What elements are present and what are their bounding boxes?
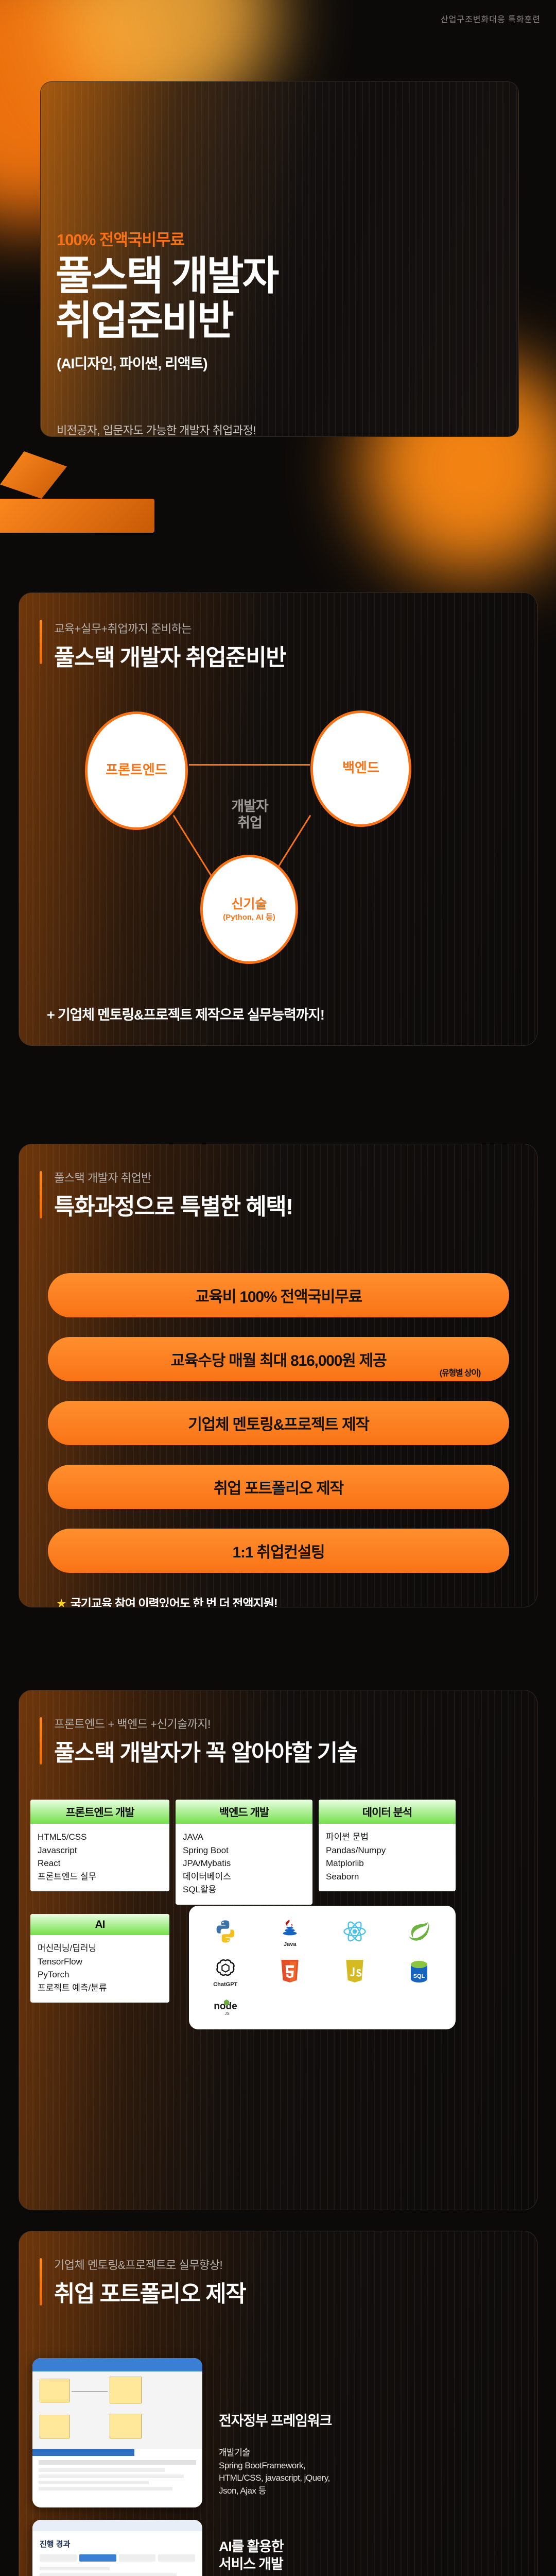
- accent-bar: [40, 2258, 42, 2306]
- star-icon: ★: [56, 1597, 66, 1607]
- diagram-section: 교육+실무+취업까지 준비하는 풀스택 개발자 취업준비반 프론트엔드 백엔드 …: [19, 592, 537, 1046]
- diagram-footer-note: + 기업체 멘토링&프로젝트 제작으로 실무능력까지!: [47, 1004, 324, 1024]
- benefit-pill[interactable]: 취업 포트폴리오 제작: [48, 1465, 509, 1509]
- decor-shard-2: [0, 499, 154, 533]
- javascript-logo: [344, 1959, 366, 1986]
- benefits-eyebrow: 풀스택 개발자 취업반: [54, 1169, 292, 1185]
- portfolio-eyebrow: 기업체 멘토링&프로젝트로 실무향상!: [54, 2256, 246, 2273]
- skills-title: 풀스택 개발자가 꼭 알아야할 기술: [54, 1740, 357, 1766]
- hero-kicker: 100% 전액국비무료: [57, 227, 184, 250]
- skill-card-body: 머신러닝/딥러닝 TensorFlow PyTorch 프로젝트 예측/분류: [30, 1935, 169, 2003]
- benefit-pill[interactable]: 교육비 100% 전액국비무료: [48, 1273, 509, 1317]
- portfolio-item-title: 전자정부 프레임워크: [219, 2413, 517, 2430]
- skill-card-header: 데이터 분석: [319, 1800, 456, 1824]
- portfolio-section: 기업체 멘토링&프로젝트로 실무향상! 취업 포트폴리오 제작 전자정부 프레임…: [19, 2231, 537, 2576]
- diagram-heading: 교육+실무+취업까지 준비하는 풀스택 개발자 취업준비반: [54, 620, 286, 671]
- hero-sub: 비전공자, 입문자도 가능한 개발자 취업과정!: [57, 421, 256, 438]
- portfolio-screenshot-2: 진행 경과: [32, 2520, 202, 2576]
- java-logo: Java: [278, 1917, 302, 1947]
- diagram-center-label: 개발자 취업: [208, 798, 291, 832]
- html5-logo: [279, 1959, 301, 1986]
- skill-card-body: JAVA Spring Boot JPA/Mybatis 데이터베이스 SQL활…: [176, 1824, 312, 1905]
- skill-card-backend: 백엔드 개발 JAVA Spring Boot JPA/Mybatis 데이터베…: [176, 1800, 312, 1905]
- skill-card-ai: AI 머신러닝/딥러닝 TensorFlow PyTorch 프로젝트 예측/분…: [30, 1914, 169, 2003]
- skill-card-header: 백엔드 개발: [176, 1800, 312, 1824]
- hero-title-line2: 취업준비반: [56, 298, 277, 343]
- edge-frontend-backend: [189, 764, 310, 766]
- svg-text:JS: JS: [224, 2011, 229, 2016]
- skill-card-frontend: 프론트엔드 개발 HTML5/CSS Javascript React 프론트엔…: [30, 1800, 169, 1891]
- diagram-eyebrow: 교육+실무+취업까지 준비하는: [54, 620, 286, 636]
- skill-card-header: 프론트엔드 개발: [30, 1800, 169, 1824]
- benefits-star-note: ★국기교육 참여 이력있어도 한 번 더 전액지원!: [56, 1594, 277, 1607]
- skills-section: 프론트엔드 + 백엔드 +신기술까지! 풀스택 개발자가 꼭 알아야할 기술 프…: [19, 1690, 537, 2210]
- accent-bar: [40, 1717, 42, 1765]
- skill-card-body: HTML5/CSS Javascript React 프론트엔드 실무: [30, 1824, 169, 1891]
- hero-section: 산업구조변화대응 특화훈련 100% 전액국비무료 풀스택 개발자 취업준비반 …: [0, 0, 556, 546]
- benefits-section: 풀스택 개발자 취업반 특화과정으로 특별한 혜택! 교육비 100% 전액국비…: [19, 1144, 537, 1607]
- tech-logo-panel: Java ChatGPT SQL nodeJS: [189, 1906, 456, 2029]
- benefit-note: (유형별 상이): [440, 1366, 480, 1378]
- decor-shard-1: [0, 451, 67, 499]
- benefits-heading: 풀스택 개발자 취업반 특화과정으로 특별한 혜택!: [54, 1169, 292, 1221]
- accent-bar: [40, 620, 42, 664]
- hero-title: 풀스택 개발자 취업준비반: [56, 253, 277, 344]
- portfolio-item-title: AI를 활용한 서비스 개발: [219, 2538, 517, 2573]
- accent-bar: [40, 1171, 42, 1218]
- skill-card-body: 파이썬 문법 Pandas/Numpy Matplorlib Seaborn: [319, 1824, 456, 1891]
- diagram-title: 풀스택 개발자 취업준비반: [54, 645, 286, 670]
- portfolio-item-body: 개발기술 Spring BootFramework, HTML/CSS, jav…: [219, 2447, 517, 2498]
- node-frontend: 프론트엔드: [85, 711, 188, 830]
- benefits-title: 특화과정으로 특별한 혜택!: [54, 1194, 292, 1219]
- skill-card-header: AI: [30, 1914, 169, 1935]
- sql-logo: SQL: [408, 1959, 430, 1985]
- svg-text:SQL: SQL: [413, 1973, 425, 1979]
- hero-subtitle-paren: (AI디자인, 파이썬, 리액트): [57, 352, 207, 373]
- react-logo: [341, 1918, 368, 1946]
- skills-heading: 프론트엔드 + 백엔드 +신기술까지! 풀스택 개발자가 꼭 알아야할 기술: [54, 1715, 357, 1767]
- top-note: 산업구조변화대응 특화훈련: [441, 12, 541, 25]
- skills-eyebrow: 프론트엔드 + 백엔드 +신기술까지!: [54, 1715, 357, 1732]
- benefit-pill[interactable]: 1:1 취업컨설팅: [48, 1529, 509, 1573]
- portfolio-title: 취업 포트폴리오 제작: [54, 2281, 246, 2307]
- node-backend: 백엔드: [310, 710, 411, 827]
- chatgpt-logo: ChatGPT: [213, 1957, 237, 1988]
- node-newtech: 신기술 (Python, AI 등): [200, 855, 298, 964]
- python-logo: [212, 1918, 239, 1946]
- spring-logo: [406, 1919, 432, 1945]
- hero-title-line1: 풀스택 개발자: [56, 253, 277, 298]
- nodejs-logo: nodeJS: [211, 1997, 240, 2019]
- skill-card-data: 데이터 분석 파이썬 문법 Pandas/Numpy Matplorlib Se…: [319, 1800, 456, 1891]
- portfolio-heading: 기업체 멘토링&프로젝트로 실무향상! 취업 포트폴리오 제작: [54, 2256, 246, 2308]
- benefit-pill[interactable]: 기업체 멘토링&프로젝트 제작: [48, 1401, 509, 1445]
- benefit-pill[interactable]: 교육수당 매월 최대 816,000원 제공 (유형별 상이): [48, 1337, 509, 1381]
- portfolio-screenshot-1: [32, 2358, 202, 2507]
